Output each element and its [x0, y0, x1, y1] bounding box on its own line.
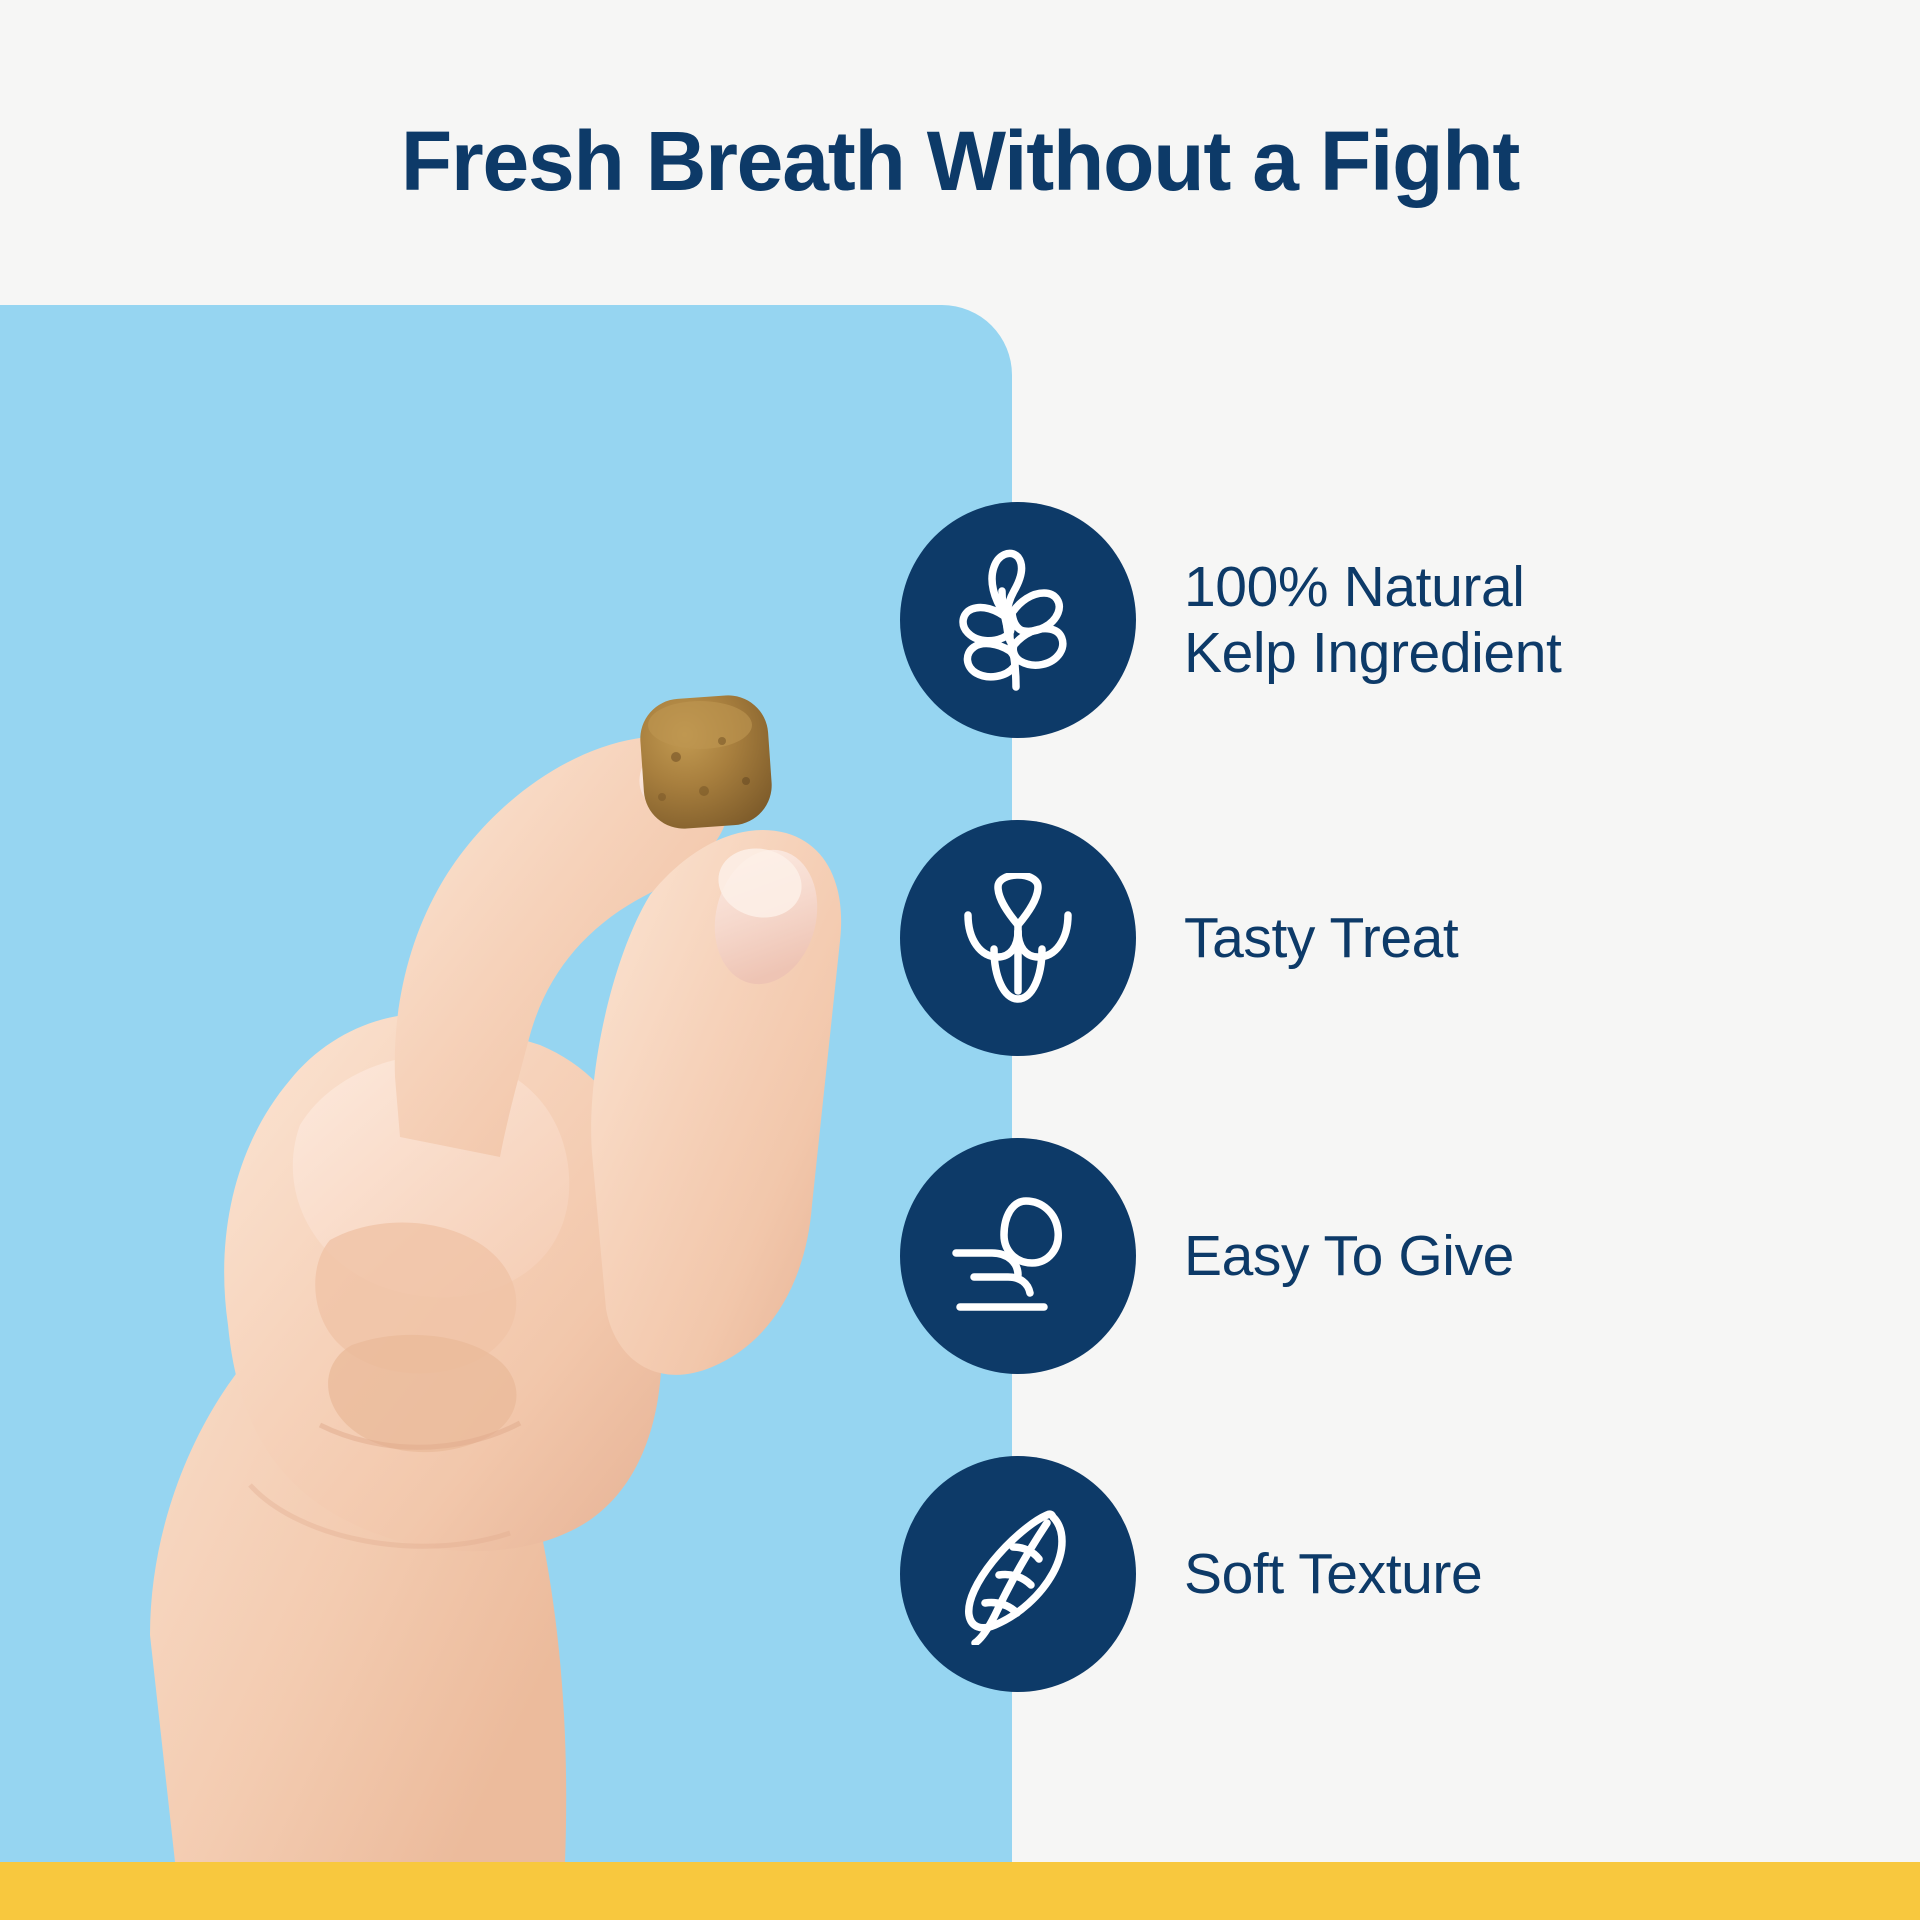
tongue-icon — [900, 820, 1136, 1056]
dog-treat — [638, 693, 775, 832]
product-photo-panel — [0, 305, 1012, 1862]
promo-graphic: Fresh Breath Without a Fight — [0, 0, 1920, 1920]
kelp-leaf-icon — [900, 502, 1136, 738]
yellow-accent-bar — [0, 1862, 1920, 1920]
feature-item-tasty-treat: Tasty Treat — [900, 818, 1458, 1058]
page-title: Fresh Breath Without a Fight — [401, 117, 1519, 205]
feature-label: 100% Natural Kelp Ingredient — [1184, 554, 1561, 686]
feather-icon — [900, 1456, 1136, 1692]
feature-label: Tasty Treat — [1184, 905, 1458, 971]
feature-item-easy-to-give: Easy To Give — [900, 1136, 1514, 1376]
hand-holding-treat-photo — [0, 305, 1012, 1862]
header: Fresh Breath Without a Fight — [0, 0, 1920, 305]
feature-item-kelp: 100% Natural Kelp Ingredient — [900, 500, 1561, 740]
feature-item-soft-texture: Soft Texture — [900, 1454, 1482, 1694]
hand-offering-treat-icon — [900, 1138, 1136, 1374]
feature-label: Easy To Give — [1184, 1223, 1514, 1289]
feature-label: Soft Texture — [1184, 1541, 1482, 1607]
